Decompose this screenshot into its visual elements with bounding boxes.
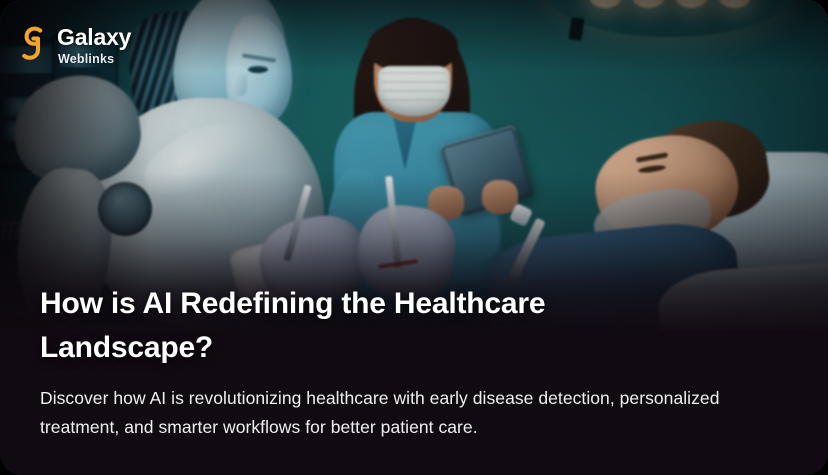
brand-tagline: Weblinks bbox=[58, 53, 131, 66]
galaxy-g-mark-icon bbox=[20, 26, 48, 66]
page-title: How is AI Redefining the Healthcare Land… bbox=[40, 282, 600, 370]
brand-logo-text: Galaxy Weblinks bbox=[57, 26, 131, 66]
brand-name: Galaxy bbox=[57, 26, 131, 49]
article-hero-card: Galaxy Weblinks How is AI Redefining the… bbox=[0, 0, 828, 475]
brand-logo[interactable]: Galaxy Weblinks bbox=[20, 26, 131, 66]
hero-copy: How is AI Redefining the Healthcare Land… bbox=[40, 282, 780, 441]
page-subtitle: Discover how AI is revolutionizing healt… bbox=[40, 384, 760, 441]
